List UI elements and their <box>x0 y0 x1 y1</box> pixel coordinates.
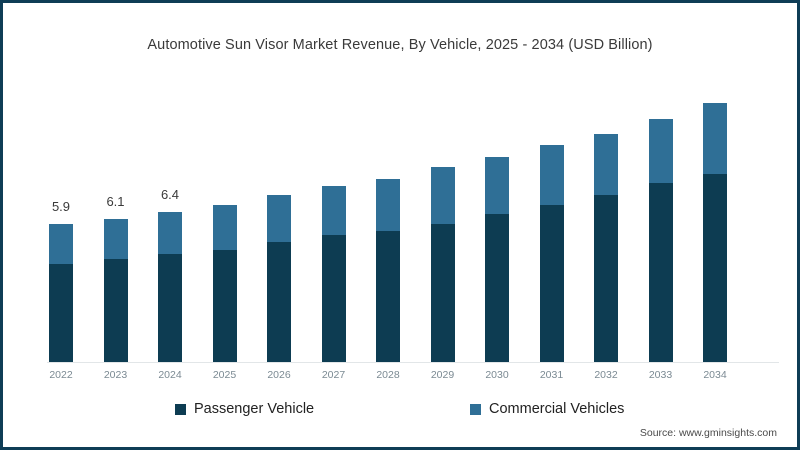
bar-segment-passenger-vehicle[interactable] <box>649 183 673 363</box>
x-axis-tick-2031: 2031 <box>522 369 582 381</box>
x-axis-tick-2026: 2026 <box>249 369 309 381</box>
legend-label: Passenger Vehicle <box>194 401 314 417</box>
bar-segment-passenger-vehicle[interactable] <box>485 214 509 363</box>
bar-column[interactable] <box>485 157 509 363</box>
bar-segment-passenger-vehicle[interactable] <box>322 235 346 363</box>
bar-segment-passenger-vehicle[interactable] <box>213 250 237 363</box>
x-axis-tick-2029: 2029 <box>413 369 473 381</box>
x-axis-tick-2022: 2022 <box>31 369 91 381</box>
bar-segment-passenger-vehicle[interactable] <box>540 205 564 363</box>
chart-figure: Automotive Sun Visor Market Revenue, By … <box>0 0 800 450</box>
bar-segment-passenger-vehicle[interactable] <box>49 264 73 363</box>
bar-column[interactable] <box>213 205 237 363</box>
chart-legend: Passenger VehicleCommercial Vehicles <box>3 401 797 421</box>
bar-column[interactable] <box>376 179 400 363</box>
bar-column[interactable] <box>322 186 346 363</box>
legend-label: Commercial Vehicles <box>489 401 624 417</box>
bar-segment-passenger-vehicle[interactable] <box>376 231 400 363</box>
legend-item-commercial-vehicles[interactable]: Commercial Vehicles <box>470 401 624 417</box>
bar-column[interactable] <box>104 219 128 363</box>
x-axis-tick-2027: 2027 <box>304 369 364 381</box>
bar-column[interactable] <box>540 145 564 363</box>
plot-area <box>47 83 777 363</box>
legend-swatch-icon <box>175 404 186 415</box>
bar-segment-commercial-vehicles[interactable] <box>703 103 727 174</box>
bar-segment-commercial-vehicles[interactable] <box>267 195 291 242</box>
bar-column[interactable] <box>431 167 455 363</box>
x-axis-tick-2034: 2034 <box>685 369 745 381</box>
bar-segment-passenger-vehicle[interactable] <box>594 195 618 363</box>
x-axis-tick-2033: 2033 <box>631 369 691 381</box>
bar-segment-commercial-vehicles[interactable] <box>649 119 673 183</box>
source-attribution: Source: www.gminsights.com <box>640 427 777 439</box>
bar-segment-commercial-vehicles[interactable] <box>594 134 618 195</box>
bar-segment-commercial-vehicles[interactable] <box>158 212 182 255</box>
bar-segment-commercial-vehicles[interactable] <box>49 224 73 264</box>
bar-column[interactable] <box>267 195 291 363</box>
x-axis-tick-2032: 2032 <box>576 369 636 381</box>
bar-segment-commercial-vehicles[interactable] <box>104 219 128 259</box>
bar-value-label: 6.1 <box>86 194 146 209</box>
bar-segment-commercial-vehicles[interactable] <box>376 179 400 231</box>
x-axis-tick-2028: 2028 <box>358 369 418 381</box>
x-axis-tick-2025: 2025 <box>195 369 255 381</box>
bar-segment-commercial-vehicles[interactable] <box>540 145 564 204</box>
bar-segment-passenger-vehicle[interactable] <box>267 242 291 363</box>
chart-title: Automotive Sun Visor Market Revenue, By … <box>3 37 797 53</box>
bar-segment-commercial-vehicles[interactable] <box>322 186 346 236</box>
bar-column[interactable] <box>703 103 727 363</box>
bar-segment-passenger-vehicle[interactable] <box>104 259 128 363</box>
x-axis-baseline <box>47 362 779 363</box>
legend-item-passenger-vehicle[interactable]: Passenger Vehicle <box>175 401 314 417</box>
bar-segment-passenger-vehicle[interactable] <box>158 254 182 363</box>
bar-segment-passenger-vehicle[interactable] <box>431 224 455 364</box>
legend-swatch-icon <box>470 404 481 415</box>
x-axis-tick-2030: 2030 <box>467 369 527 381</box>
bar-value-label: 6.4 <box>140 187 200 202</box>
x-axis-tick-2024: 2024 <box>140 369 200 381</box>
bar-value-label: 5.9 <box>31 199 91 214</box>
bar-column[interactable] <box>49 224 73 364</box>
bar-column[interactable] <box>594 134 618 363</box>
bar-segment-commercial-vehicles[interactable] <box>431 167 455 224</box>
bar-column[interactable] <box>158 212 182 363</box>
bar-segment-commercial-vehicles[interactable] <box>485 157 509 214</box>
bar-column[interactable] <box>649 119 673 363</box>
x-axis-tick-2023: 2023 <box>86 369 146 381</box>
bar-segment-commercial-vehicles[interactable] <box>213 205 237 250</box>
bar-segment-passenger-vehicle[interactable] <box>703 174 727 363</box>
